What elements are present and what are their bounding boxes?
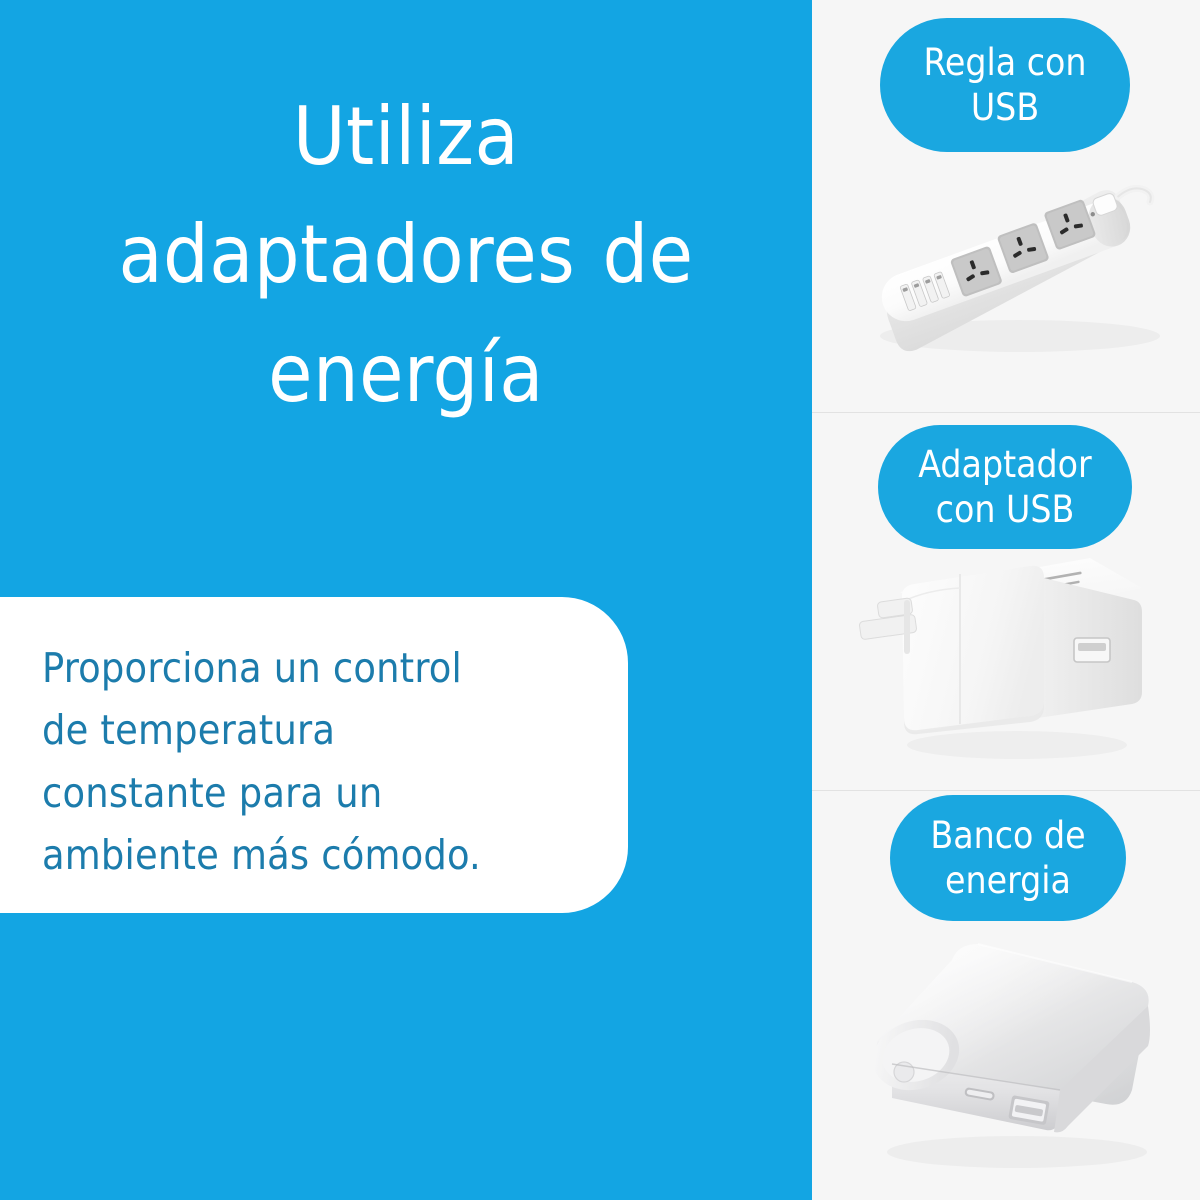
poster-root: Utiliza adaptadores de energía Proporcio… (0, 0, 1200, 1200)
badge-power-bank: Banco de energia (890, 795, 1126, 921)
badge-power-bank-line-1: Banco de (930, 813, 1085, 858)
badge-usb-adapter-line-2: con USB (918, 487, 1091, 532)
info-card-text: Proporciona un control de temperatura co… (42, 637, 572, 886)
badge-power-strip-line-2: USB (923, 85, 1086, 130)
usb-adapter-image (842, 540, 1182, 775)
page-title: Utiliza adaptadores de energía (40, 78, 772, 433)
product-column: Regla con USB (812, 0, 1200, 1200)
badge-power-strip-line-1: Regla con (923, 40, 1086, 85)
badge-usb-adapter-line-1: Adaptador (918, 442, 1091, 487)
product-panel-power-bank: Banco de energia (812, 790, 1200, 1200)
headline-line-1: Utiliza (40, 78, 772, 196)
info-card-line-3: constante para un (42, 762, 572, 824)
product-panel-usb-adapter: Adaptador con USB (812, 412, 1200, 790)
power-strip-image (852, 178, 1182, 378)
left-column: Utiliza adaptadores de energía Proporcio… (0, 0, 812, 1200)
product-panel-power-strip: Regla con USB (812, 0, 1200, 412)
badge-power-bank-line-2: energia (930, 858, 1085, 903)
info-card: Proporciona un control de temperatura co… (0, 597, 628, 913)
info-card-line-4: ambiente más cómodo. (42, 824, 572, 886)
badge-power-strip: Regla con USB (880, 18, 1130, 152)
info-card-line-2: de temperatura (42, 699, 572, 761)
info-card-line-1: Proporciona un control (42, 637, 572, 699)
headline-line-2: adaptadores de (40, 196, 772, 314)
badge-usb-adapter: Adaptador con USB (878, 425, 1132, 549)
headline-line-3: energía (40, 315, 772, 433)
power-bank-image (832, 930, 1187, 1180)
